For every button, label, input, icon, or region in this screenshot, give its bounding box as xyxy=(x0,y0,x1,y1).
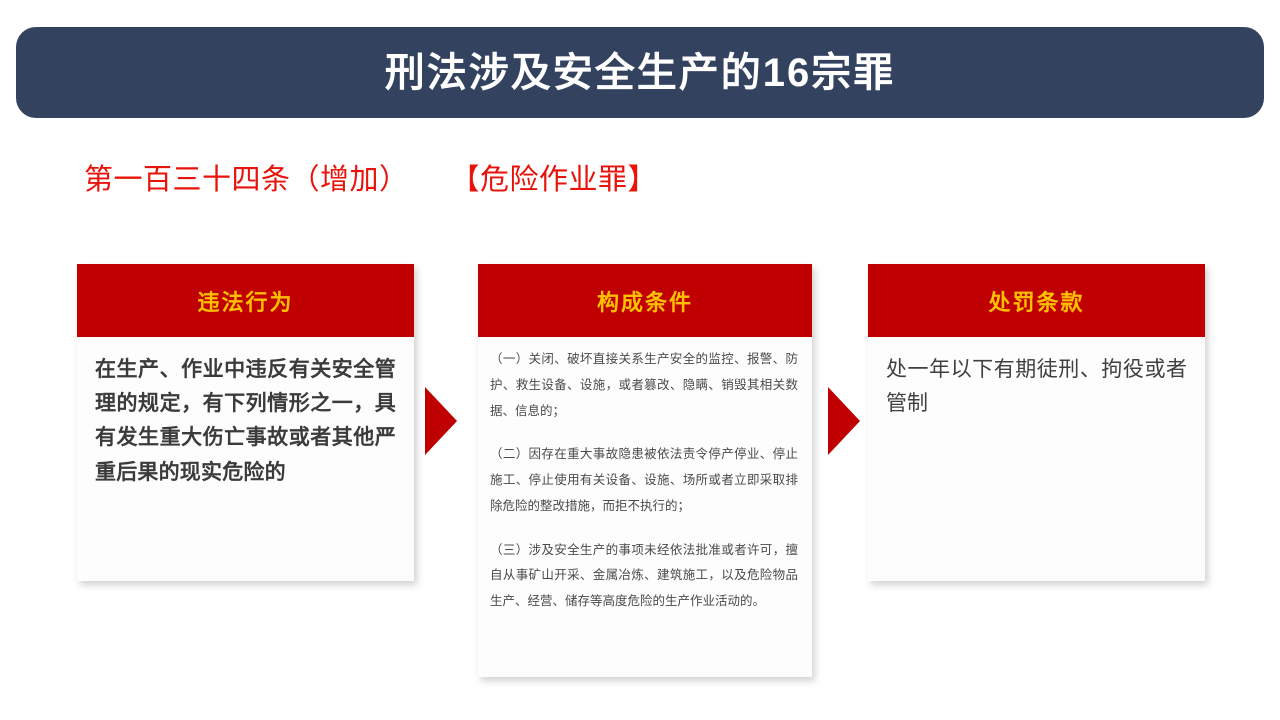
card-conditions: 构成条件 （一）关闭、破坏直接关系生产安全的监控、报警、防护、救生设备、设施，或… xyxy=(478,264,812,677)
card-conditions-clause-one: （一）关闭、破坏直接关系生产安全的监控、报警、防护、救生设备、设施，或者篡改、隐… xyxy=(490,347,798,424)
card-conditions-clause-two: （二）因存在重大事故隐患被依法责令停产停业、停止施工、停止使用有关设备、设施、场… xyxy=(490,442,798,519)
card-penalty-header: 处罚条款 xyxy=(868,264,1205,337)
card-penalty: 处罚条款 处一年以下有期徒刑、拘役或者管制 xyxy=(868,264,1205,581)
card-penalty-body: 处一年以下有期徒刑、拘役或者管制 xyxy=(868,337,1205,437)
card-illegal-act-body: 在生产、作业中违反有关安全管理的规定，有下列情形之一，具有发生重大伤亡事故或者其… xyxy=(77,337,414,500)
card-conditions-header: 构成条件 xyxy=(478,264,812,337)
card-illegal-act-title: 违法行为 xyxy=(197,285,293,317)
arrow-right-icon-two xyxy=(828,387,860,455)
card-conditions-clause-three: （三）涉及安全生产的事项未经依法批准或者许可，擅自从事矿山开采、金属冶炼、建筑施… xyxy=(490,538,798,615)
card-illegal-act-header: 违法行为 xyxy=(77,264,414,337)
card-penalty-title: 处罚条款 xyxy=(988,285,1084,317)
subtitle-row: 第一百三十四条（增加） 【危险作业罪】 xyxy=(84,156,657,198)
card-illegal-act: 违法行为 在生产、作业中违反有关安全管理的规定，有下列情形之一，具有发生重大伤亡… xyxy=(77,264,414,581)
page-title: 刑法涉及安全生产的16宗罪 xyxy=(385,53,896,93)
subtitle-crime-name: 【危险作业罪】 xyxy=(451,156,658,198)
arrow-right-icon-one xyxy=(425,387,457,455)
subtitle-article-number: 第一百三十四条（增加） xyxy=(84,156,409,198)
card-penalty-paragraph: 处一年以下有期徒刑、拘役或者管制 xyxy=(886,353,1187,421)
card-illegal-act-paragraph: 在生产、作业中违反有关安全管理的规定，有下列情形之一，具有发生重大伤亡事故或者其… xyxy=(95,353,396,490)
card-conditions-body: （一）关闭、破坏直接关系生产安全的监控、报警、防护、救生设备、设施，或者篡改、隐… xyxy=(478,337,812,625)
card-conditions-title: 构成条件 xyxy=(597,285,693,317)
slide-title-banner: 刑法涉及安全生产的16宗罪 xyxy=(16,27,1264,118)
